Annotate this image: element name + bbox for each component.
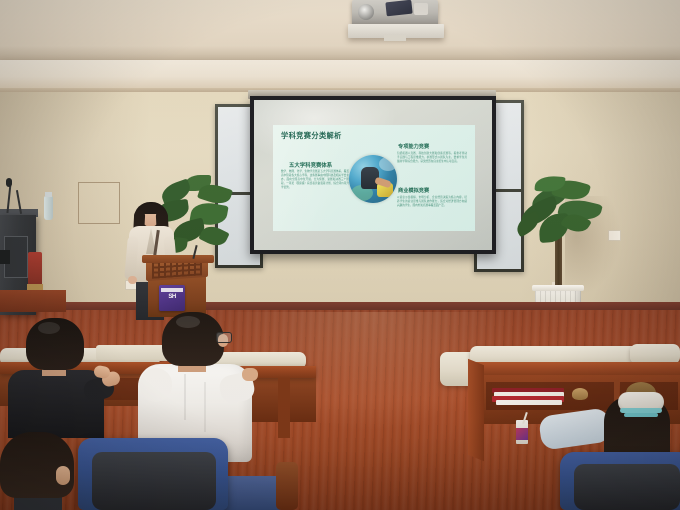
podium: SH xyxy=(142,255,214,317)
presenter-hand xyxy=(128,276,137,284)
screen-surface: 学科竞赛分类解析 五大学科竞赛体系 数学、物理、化学、生物学竞赛是五大学科竞赛体… xyxy=(254,100,492,250)
lecture-hall-photo: 学科竞赛分类解析 五大学科竞赛体系 数学、物理、化学、生物学竞赛是五大学科竞赛体… xyxy=(0,0,680,510)
student-black-shirt xyxy=(2,318,108,438)
shirt-fold xyxy=(204,382,206,432)
projection-screen: 学科竞赛分类解析 五大学科竞赛体系 数学、物理、化学、生物学竞赛是五大学科竞赛体… xyxy=(250,96,496,254)
slide-title: 学科竞赛分类解析 xyxy=(281,131,342,141)
podium-sign-text: SH xyxy=(161,294,183,300)
desk-right-side xyxy=(468,359,484,461)
slide-body-left: 数学、物理、化学、生物学竞赛是五大学科竞赛体系，覆盖高中阶段各大核心学科，这些赛… xyxy=(281,170,349,190)
carton-label xyxy=(516,428,528,440)
planter-rim xyxy=(532,285,584,291)
books xyxy=(492,388,564,404)
chair-panel-left xyxy=(92,452,216,510)
hair-highlight xyxy=(38,322,60,334)
shirt-fold xyxy=(184,374,186,420)
desk-object xyxy=(572,388,588,400)
bench-cushion xyxy=(630,344,680,364)
slide-heading-right-2: 商业模拟竞赛 xyxy=(398,187,429,194)
sign-banner xyxy=(161,288,183,292)
projector-mount-plate xyxy=(348,24,444,38)
desk-right xyxy=(468,362,680,375)
podium-edge xyxy=(142,255,214,263)
water-bottle xyxy=(44,196,53,220)
slide-body-right-2: 以商业沙盘模拟、市场分析、企业经营决策为核心内容，培养学生的商业思维与团队协作能… xyxy=(397,196,467,208)
projector-body-detail-2 xyxy=(414,3,428,15)
presentation-slide: 学科竞赛分类解析 五大学科竞赛体系 数学、物理、化学、生物学竞赛是五大学科竞赛体… xyxy=(273,125,475,231)
ceiling-beam xyxy=(0,60,680,90)
projector-icon xyxy=(352,0,438,26)
student-hand xyxy=(242,368,258,381)
student-foreground xyxy=(0,432,86,510)
chair-armrest xyxy=(276,462,298,510)
slide-body-right-1: 包括机器人竞赛、科技创新大赛和创客竞赛等，着重考查动手实践与工程思维能力，参赛形… xyxy=(397,152,467,164)
side-desk-left xyxy=(0,290,66,312)
potted-tree xyxy=(505,170,615,320)
slide-heading-right-1: 专项能力竞赛 xyxy=(398,143,429,150)
student-head xyxy=(0,432,74,498)
desk-leg xyxy=(278,378,290,438)
hair-highlight xyxy=(176,316,200,328)
book xyxy=(496,400,562,405)
chair-panel-right xyxy=(574,464,680,510)
projector-lens xyxy=(358,4,374,20)
red-chair xyxy=(28,252,42,286)
projector-body-detail xyxy=(385,0,412,16)
mount-tab xyxy=(384,35,406,41)
console-slot xyxy=(0,250,10,264)
student-ear xyxy=(56,466,70,485)
hair-tie-2 xyxy=(624,413,658,417)
glasses-icon xyxy=(216,332,232,343)
student-shoulder xyxy=(140,368,172,402)
podium-sign: SH xyxy=(159,285,185,311)
microphone-icon xyxy=(6,178,12,187)
photo-tint-2 xyxy=(379,157,397,171)
slide-heading-left: 五大学科竞赛体系 xyxy=(289,161,332,169)
slide-circle-photo xyxy=(349,155,397,203)
wall-marking xyxy=(78,182,120,224)
bottle-cap xyxy=(45,192,52,197)
